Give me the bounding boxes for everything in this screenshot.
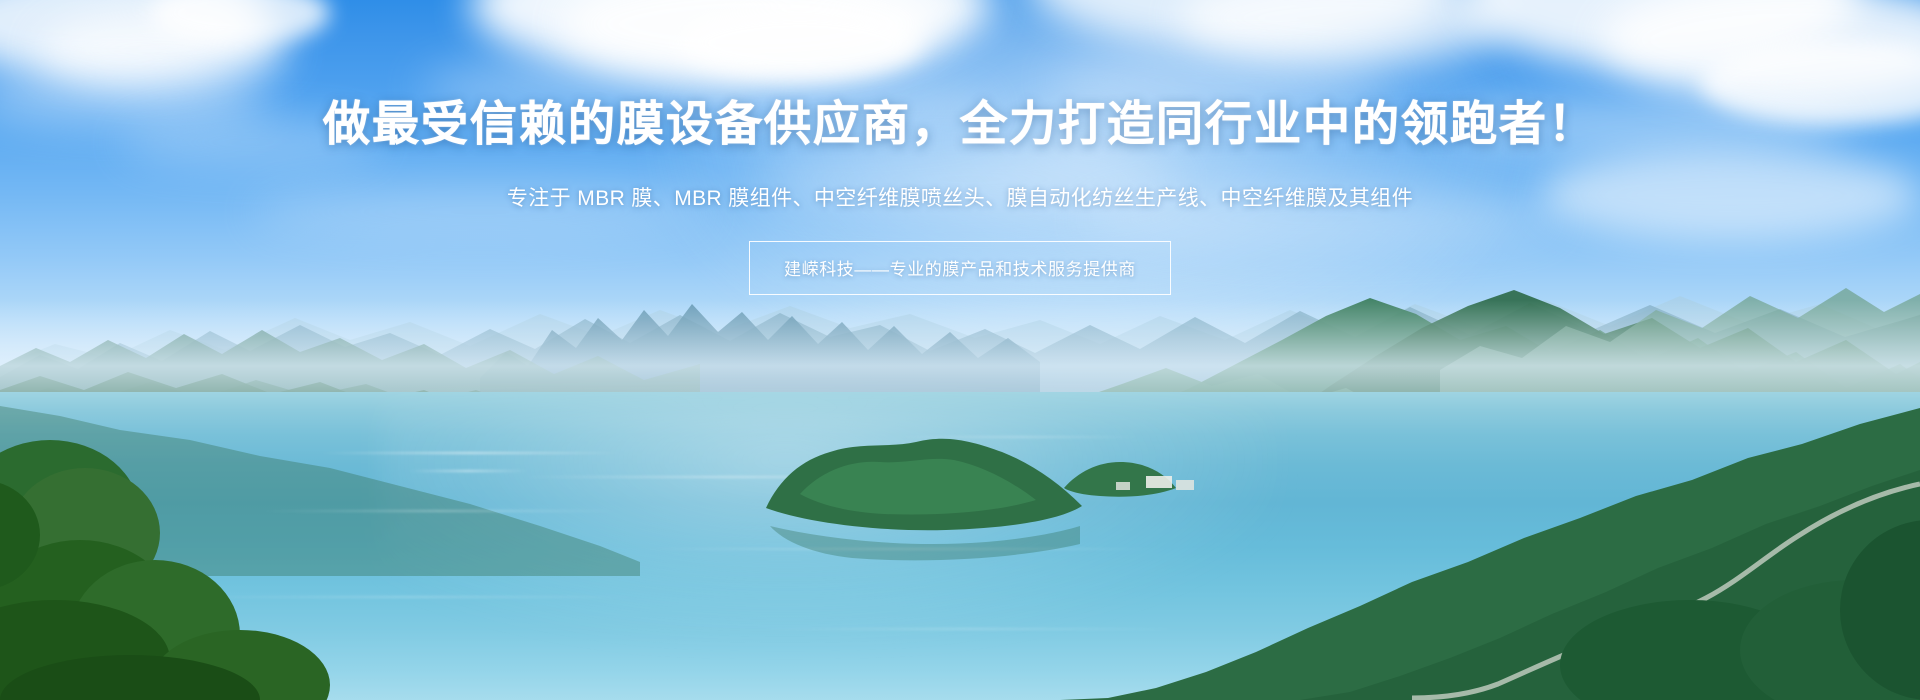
cloud xyxy=(1540,150,1920,240)
hero-banner: 做最受信赖的膜设备供应商，全力打造同行业中的领跑者！ 专注于 MBR 膜、MBR… xyxy=(0,0,1920,700)
island xyxy=(760,420,1090,540)
water-ripple xyxy=(320,452,620,454)
village-building xyxy=(1146,476,1172,488)
cloud xyxy=(120,120,380,164)
village-building xyxy=(1176,480,1194,490)
cloud xyxy=(1050,54,1390,106)
cloud xyxy=(760,150,1180,208)
cloud xyxy=(690,86,990,132)
water-ripple xyxy=(260,510,620,512)
island-reflection xyxy=(770,524,1080,568)
cloud xyxy=(1450,96,1850,156)
cloud xyxy=(250,185,710,239)
water-ripple xyxy=(180,596,640,598)
village-building xyxy=(1116,482,1130,490)
boat-wake xyxy=(408,470,528,472)
